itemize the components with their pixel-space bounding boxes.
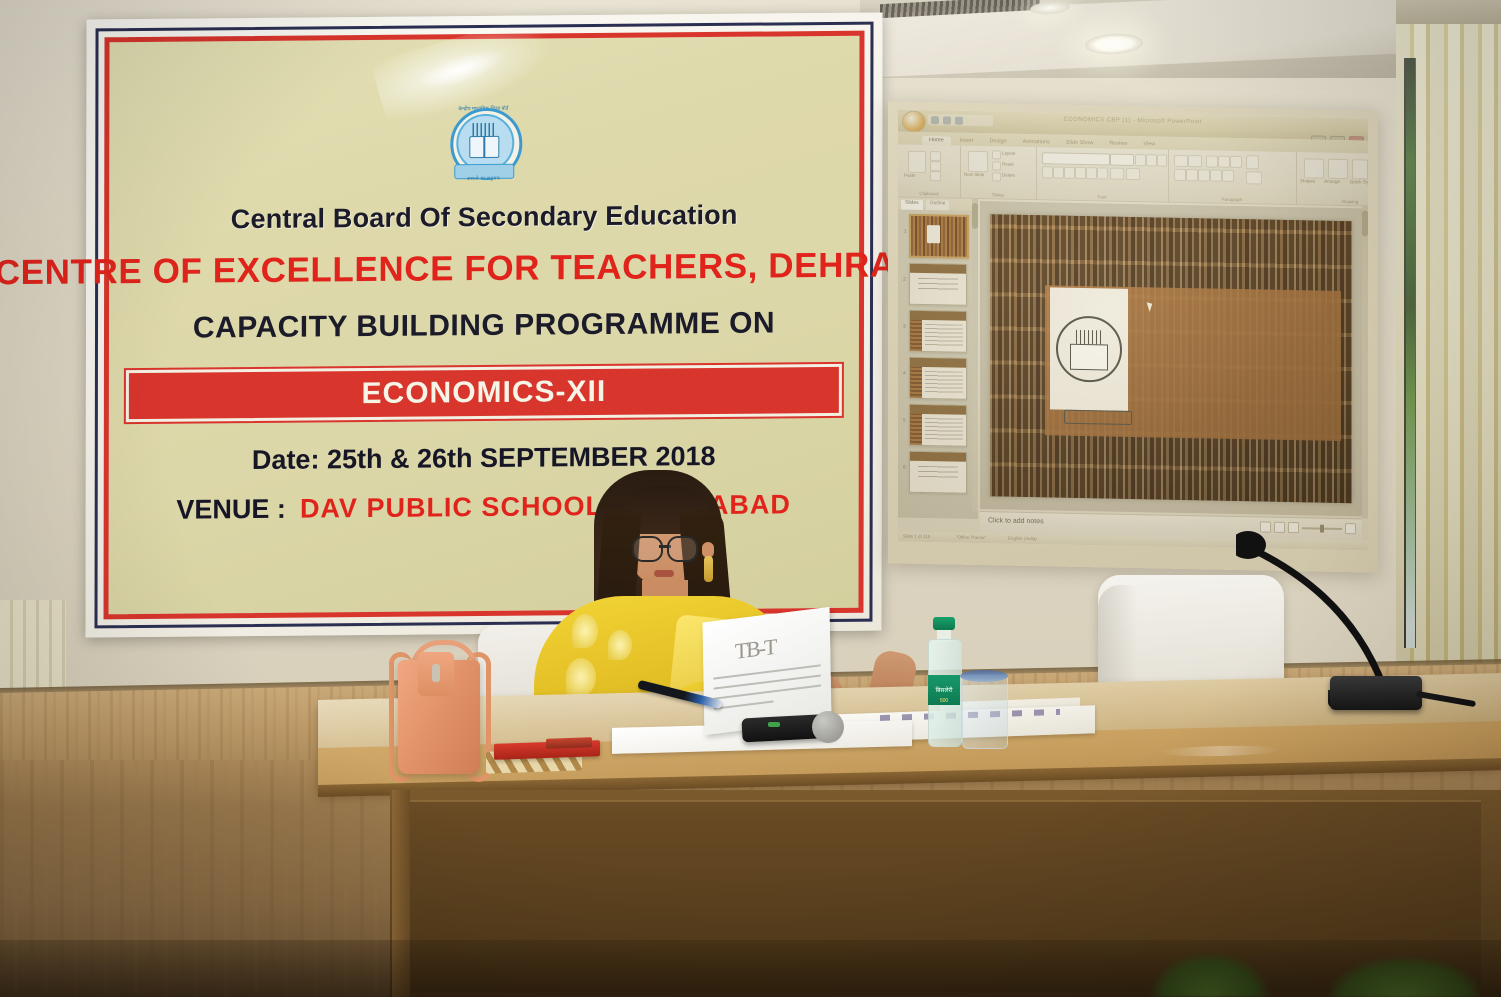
floor-shadow [0,940,1501,997]
current-slide[interactable] [990,214,1352,503]
plant-foliage-left [1150,952,1270,997]
bullets-icon[interactable] [1174,155,1188,167]
ribbon-group-clipboard[interactable]: Paste Clipboard [898,144,961,197]
bottle-size: 500 [928,698,960,704]
cbse-emblem-ribbon [1064,410,1132,425]
earring-icon [704,556,713,582]
slide-cbse-logo-icon[interactable] [1050,287,1128,410]
shapes-icon[interactable] [1304,158,1324,178]
bottle-brand: बिसलेरी [935,686,952,694]
increase-indent-icon[interactable] [1218,156,1230,168]
slide-number: 2 [903,277,906,283]
font-size-combo[interactable] [1110,154,1134,166]
ribbon-group-label-drawing: Drawing [1296,198,1368,205]
windows-start-icon[interactable] [902,544,915,550]
banner-subject: ECONOMICS-XII [362,375,607,411]
align-right-icon[interactable] [1198,169,1210,181]
microphone-status-led [768,722,780,727]
ribbon-group-label-paragraph: Paragraph [1168,196,1296,203]
cut-icon[interactable] [930,151,941,161]
delete-slide-icon[interactable] [992,172,1001,181]
copy-icon[interactable] [930,161,941,171]
slide-thumbnail[interactable]: 2 [909,263,967,306]
water-bottle: बिसलेरी 500 [928,617,960,745]
thumbnail-scrollbar[interactable] [972,199,978,511]
shapes-label: Shapes [1300,178,1315,183]
numbering-icon[interactable] [1188,155,1202,167]
scrollbar-thumb[interactable] [1362,210,1368,236]
format-painter-icon[interactable] [930,171,941,181]
layout-icon[interactable] [992,150,1001,159]
font-family-combo[interactable] [1042,152,1110,165]
notes-placeholder: Click to add notes [988,517,1044,525]
grow-font-icon[interactable] [1135,154,1146,166]
thumbnail-text-lines [918,466,958,481]
decrease-indent-icon[interactable] [1206,155,1218,167]
thumbnail-header-band [910,311,966,321]
strikethrough-icon[interactable] [1075,167,1086,179]
projection-screen: ECONOMICS CBP (1) - Microsoft PowerPoint… [888,101,1378,572]
ribbon-group-paragraph[interactable]: Paragraph [1168,150,1297,204]
slide-scrollbar[interactable] [1362,206,1368,518]
arrange-icon[interactable] [1328,159,1348,179]
slide-editing-canvas[interactable] [980,201,1362,516]
powerpoint-window[interactable]: ECONOMICS CBP (1) - Microsoft PowerPoint… [898,109,1368,550]
banner-organisation: Central Board Of Secondary Education [231,200,738,235]
banner-programme-title: CAPACITY BUILDING PROGRAMME ON [193,306,775,345]
quick-styles-label: Quick Styles [1350,179,1368,184]
banner-subject-bar: ECONOMICS-XII [124,362,844,424]
gooseneck-stem-icon [1236,528,1416,700]
thumbnail-text-lines [918,278,958,293]
new-slide-label: New Slide [964,172,984,177]
align-left-icon[interactable] [1174,169,1186,181]
align-center-icon[interactable] [1186,169,1198,181]
document-line [714,700,774,709]
thumbnail-header-band [910,264,966,274]
eyeglasses-icon [632,536,698,558]
thumbnail-header-band [910,452,966,462]
underline-icon[interactable] [1064,167,1075,179]
change-case-icon[interactable] [1110,168,1124,180]
arrange-label: Arrange [1324,179,1340,184]
powerpoint-icon[interactable]: P [1002,546,1015,551]
reset-label: Reset [1002,161,1014,166]
slide-number: 5 [903,418,906,424]
bold-icon[interactable] [1042,166,1053,178]
bottle-cap [933,617,955,630]
font-color-icon[interactable] [1126,168,1140,180]
theme-name: "Office Theme" [956,535,986,541]
lips [654,570,674,577]
new-slide-icon[interactable] [968,151,988,172]
blind-headrail [1396,0,1501,24]
fabric-motif [572,614,598,648]
ribbon-group-label-slides: Slides [960,192,1036,198]
banner-centre-name: CENTRE OF EXCELLENCE FOR TEACHERS, DEHRA… [0,245,973,294]
thumbnail-bullet-lines [925,324,963,347]
convert-smartart-icon[interactable] [1246,171,1262,184]
character-spacing-icon[interactable] [1097,167,1108,179]
ribbon-group-font[interactable]: Font [1036,147,1169,202]
handheld-microphone-head [812,711,844,743]
thumbnail-bullet-lines [925,418,963,441]
plant-foliage-right [1330,958,1480,997]
handbag-clasp-icon [432,664,440,682]
tab-view[interactable]: View [1136,140,1162,149]
chrome-icon[interactable] [975,543,992,550]
line-spacing-icon[interactable] [1230,156,1242,168]
cbse-emblem-ring [1056,316,1122,383]
eyeglass-lens-right [667,536,698,562]
slide-thumbnail[interactable]: 4 [909,357,967,400]
photograph-scene: केन्द्रीय माध्यमिक शिक्षा बोर्ड असतो मा … [0,0,1501,997]
delete-label: Delete [1002,172,1015,177]
slide-number: 4 [903,371,906,377]
shrink-font-icon[interactable] [1146,154,1157,166]
slide-number: 6 [903,465,906,471]
thumbnail-bullet-lines [925,371,963,394]
paste-icon[interactable] [908,151,926,173]
cbse-logo-motto: असतो मा सद्गमय [450,176,516,183]
quick-styles-icon[interactable] [1352,159,1368,179]
ribbon-group-drawing-box[interactable]: Shapes Arrange Quick Styles Shape Fill S… [1296,152,1368,206]
slide-counter: Slide 1 of 115 [903,534,930,540]
clear-formatting-icon[interactable] [1157,154,1167,166]
fabric-motif [566,658,596,696]
gooseneck-base [1330,676,1422,710]
drinking-glass-rim [960,670,1008,682]
paste-label: Paste [904,173,916,178]
slide-thumbnail[interactable]: 1 [909,214,969,259]
reset-icon[interactable] [992,161,1001,170]
text-direction-icon[interactable] [1246,155,1259,169]
ribbon[interactable]: Paste Clipboard New Slide Layout Reset D… [898,144,1368,206]
handbag [388,622,490,774]
italic-icon[interactable] [1053,166,1064,178]
text-shadow-icon[interactable] [1086,167,1097,179]
slide-thumbnail[interactable]: 6 [909,451,967,494]
ribbon-group-label-font: Font [1036,193,1168,201]
cbse-logo-book-icon [469,136,499,158]
cbse-logo-icon: केन्द्रीय माध्यमिक शिक्षा बोर्ड असतो मा … [446,106,522,189]
columns-icon[interactable] [1222,170,1234,182]
thumbnail-cbse-logo-icon [927,225,940,243]
ribbon-group-slides[interactable]: New Slide Layout Reset Delete Slides [960,146,1037,199]
language-indicator[interactable]: English (India) [1008,536,1037,542]
scrollbar-thumb[interactable] [972,203,978,229]
layout-label: Layout [1002,150,1016,155]
fabric-motif [608,630,632,660]
slide-thumbnail[interactable]: 3 [909,310,967,353]
slide-number: 1 [904,229,907,235]
drinking-glass [962,675,1008,749]
thumbnail-header-band [910,405,966,415]
thumbnail-header-band [910,358,966,368]
ribbon-group-label-clipboard: Clipboard [898,190,960,196]
bottle-label: बिसलेरी 500 [928,675,960,705]
eyeglass-lens-left [632,536,663,562]
phone [546,737,592,749]
file-explorer-icon[interactable] [952,545,965,550]
slide-thumbnail-pane[interactable]: 1 2 3 4 [898,209,978,519]
banner-venue-label: VENUE : [176,494,286,526]
slide-thumbnail[interactable]: 5 [909,404,967,447]
justify-icon[interactable] [1210,169,1222,181]
slide-number: 3 [903,324,906,330]
document-handwriting: TB-T [735,634,776,665]
